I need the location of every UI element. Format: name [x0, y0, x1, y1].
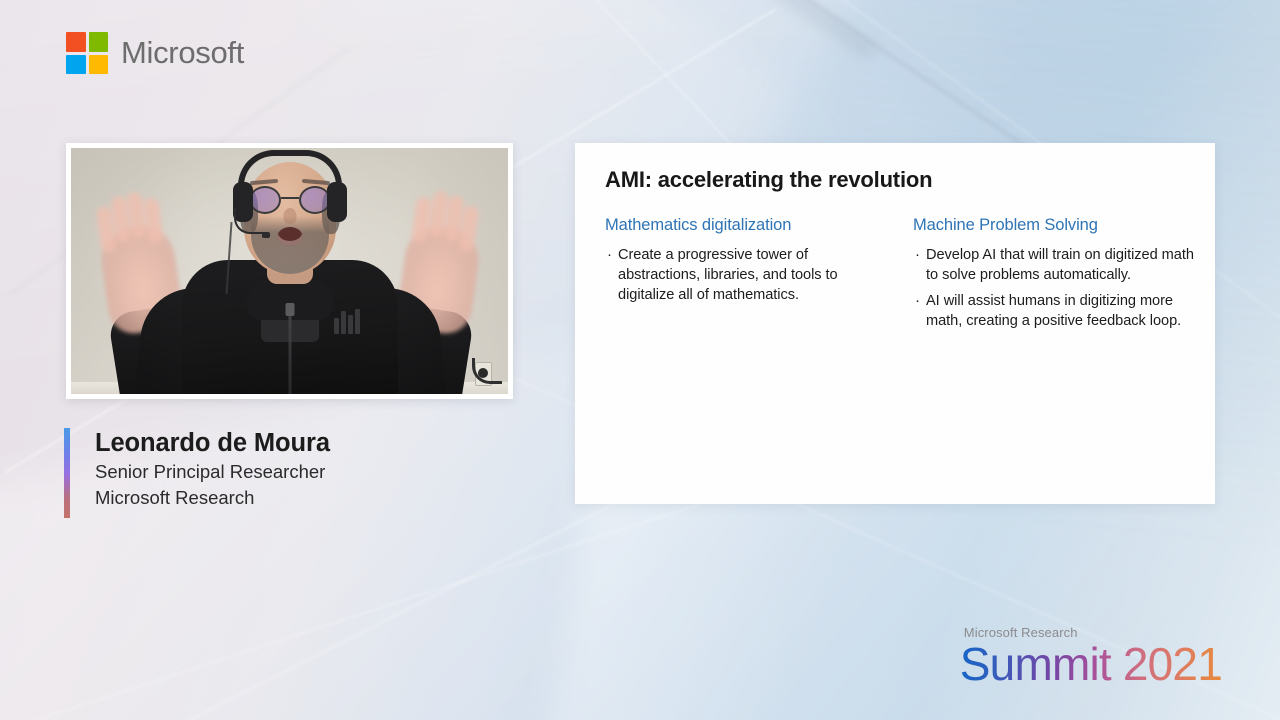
speaker-figure: [71, 148, 508, 394]
bullet-item: Develop AI that will train on digitized …: [913, 246, 1197, 286]
speaker-lower-third: Leonardo de Moura Senior Principal Resea…: [64, 428, 330, 518]
speaker-title: Senior Principal Researcher: [95, 459, 330, 485]
slide-column-left: Mathematics digitalization Create a prog…: [605, 216, 889, 338]
speaker-details: Leonardo de Moura Senior Principal Resea…: [70, 428, 330, 518]
bullet-item: AI will assist humans in digitizing more…: [913, 292, 1197, 332]
bullet-item: Create a progressive tower of abstractio…: [605, 246, 889, 306]
headset-microphone: [262, 232, 270, 238]
slide-title: AMI: accelerating the revolution: [605, 167, 932, 193]
speaker-jacket-zipper: [288, 304, 291, 394]
speaker-name: Leonardo de Moura: [95, 428, 330, 459]
microsoft-logo-icon: [66, 32, 108, 74]
headset-earcup-right: [327, 182, 347, 222]
logo-square-yellow: [89, 55, 109, 75]
speaker-zipper-pull: [285, 303, 294, 316]
logo-square-green: [89, 32, 109, 52]
event-logo: Microsoft Research Summit 2021: [960, 625, 1222, 688]
microsoft-wordmark: Microsoft: [121, 35, 244, 71]
bullet-list-right: Develop AI that will train on digitized …: [913, 246, 1197, 332]
event-title: Summit 2021: [960, 641, 1222, 688]
headset-band: [238, 150, 342, 186]
headset-mic-boom: [234, 208, 264, 234]
microsoft-logo: Microsoft: [66, 32, 244, 74]
column-heading-mathematics-digitalization: Mathematics digitalization: [605, 216, 889, 235]
speaker-organization: Microsoft Research: [95, 485, 330, 511]
column-heading-machine-problem-solving: Machine Problem Solving: [913, 216, 1197, 235]
slide-panel: AMI: accelerating the revolution Mathema…: [575, 143, 1215, 504]
speaker-video-feed[interactable]: [71, 148, 508, 394]
slide-columns: Mathematics digitalization Create a prog…: [605, 216, 1197, 338]
logo-square-blue: [66, 55, 86, 75]
bullet-list-left: Create a progressive tower of abstractio…: [605, 246, 889, 306]
slide-column-right: Machine Problem Solving Develop AI that …: [913, 216, 1197, 338]
jacket-brand-logo: [334, 308, 364, 334]
speaker-video-tile[interactable]: [66, 143, 513, 399]
presentation-stage: Microsoft: [0, 0, 1280, 720]
logo-square-red: [66, 32, 86, 52]
speaker-mouth: [277, 227, 302, 246]
